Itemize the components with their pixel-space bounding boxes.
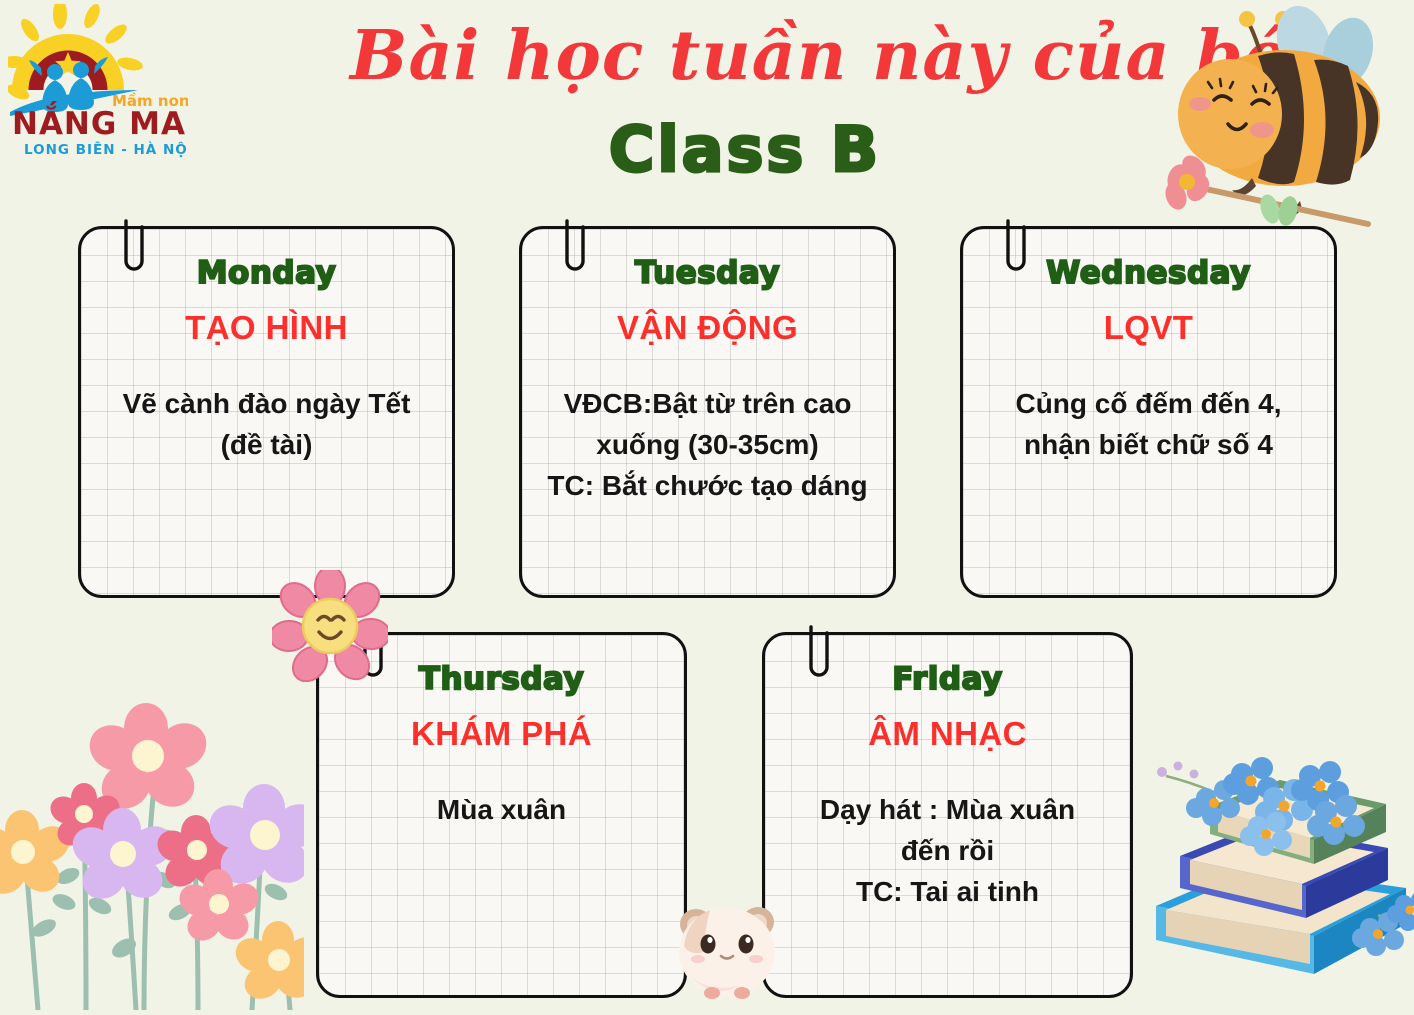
forget-me-not-cluster-top: [1186, 757, 1365, 856]
bee-illustration: [1152, 0, 1414, 228]
logo-line-sub: LONG BIÊN - HÀ NỘI: [24, 140, 188, 158]
lesson-body: Củng cố đếm đến 4, nhận biết chữ số 4: [977, 383, 1320, 465]
subject-label: TẠO HÌNH: [95, 307, 438, 349]
card-wednesday[interactable]: Wednesday LQVT Củng cố đếm đến 4, nhận b…: [960, 226, 1337, 598]
lesson-line: nhận biết chữ số 4: [977, 424, 1320, 465]
lesson-line: TC: Bắt chước tạo dáng: [536, 465, 879, 506]
lesson-line: Dạy hát : Mùa xuân: [779, 789, 1116, 830]
lesson-body: Dạy hát : Mùa xuân đến rồi TC: Tai ai ti…: [779, 789, 1116, 912]
lesson-line: xuống (30-35cm): [536, 424, 879, 465]
subject-label: VẬN ĐỘNG: [536, 307, 879, 349]
logo-line-main: NẮNG MAI: [12, 102, 188, 142]
lesson-line: đến rồi: [779, 830, 1116, 871]
card-monday[interactable]: Monday TẠO HÌNH Vẽ cành đào ngày Tết (đề…: [78, 226, 455, 598]
card-friday[interactable]: Friday ÂM NHẠC Dạy hát : Mùa xuân đến rồ…: [762, 632, 1133, 998]
page-title: Bài học tuần này của bé: [350, 8, 1140, 104]
day-label: Friday: [779, 659, 1116, 699]
flowers-illustration: [0, 690, 304, 1010]
lesson-line: Vẽ cành đào ngày Tết: [95, 383, 438, 424]
class-title: Class B: [350, 110, 1140, 190]
lesson-body: VĐCB:Bật từ trên cao xuống (30-35cm) TC:…: [536, 383, 879, 506]
lesson-line: (đề tài): [95, 424, 438, 465]
lesson-body: Mùa xuân: [333, 789, 670, 830]
smiling-flower-icon: [272, 570, 388, 682]
school-logo: Mầm non NẮNG MAI LONG BIÊN - HÀ NỘI: [8, 4, 188, 164]
books-illustration: [1138, 738, 1414, 1006]
poster-canvas: Mầm non NẮNG MAI LONG BIÊN - HÀ NỘI Bài …: [0, 0, 1414, 1000]
lesson-body: Vẽ cành đào ngày Tết (đề tài): [95, 383, 438, 465]
subject-label: KHÁM PHÁ: [333, 713, 670, 755]
day-label: Wednesday: [977, 253, 1320, 293]
lesson-line: Củng cố đếm đến 4,: [977, 383, 1320, 424]
hamster-illustration: [668, 884, 786, 1002]
card-tuesday[interactable]: Tuesday VẬN ĐỘNG VĐCB:Bật từ trên cao xu…: [519, 226, 896, 598]
day-label: Tuesday: [536, 253, 879, 293]
day-label: Monday: [95, 253, 438, 293]
lesson-line: VĐCB:Bật từ trên cao: [536, 383, 879, 424]
card-thursday[interactable]: Thursday KHÁM PHÁ Mùa xuân: [316, 632, 687, 998]
lesson-line: TC: Tai ai tinh: [779, 871, 1116, 912]
subject-label: ÂM NHẠC: [779, 713, 1116, 755]
lesson-line: Mùa xuân: [333, 789, 670, 830]
subject-label: LQVT: [977, 307, 1320, 349]
